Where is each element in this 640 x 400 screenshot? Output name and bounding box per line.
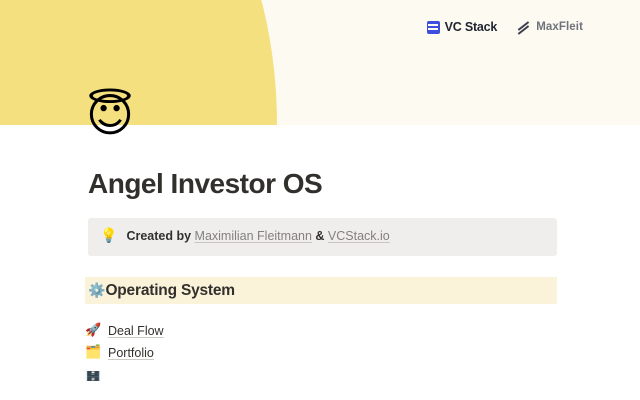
page-link-list: 🚀 Deal Flow 🗂️ Portfolio 🗄️ <box>0 320 640 381</box>
gear-emoji: ⚙️ <box>88 284 105 298</box>
vcstack-logo-label: VC Stack <box>445 20 498 34</box>
stacked-layers-icon <box>427 21 440 34</box>
double-slash-icon <box>517 21 531 33</box>
author-link[interactable]: Maximilian Fleitmann <box>195 229 312 243</box>
page-link-portfolio[interactable]: Portfolio <box>108 346 154 360</box>
card-index-dividers-emoji: 🗂️ <box>85 346 100 359</box>
rocket-emoji: 🚀 <box>85 324 100 337</box>
page-content: Angel Investor OS 💡 Created by Maximilia… <box>0 125 640 382</box>
page-title[interactable]: Angel Investor OS <box>88 168 640 200</box>
callout-block[interactable]: 💡 Created by Maximilian Fleitmann & VCSt… <box>88 218 557 256</box>
list-item[interactable]: 🗄️ <box>85 371 640 381</box>
page-link-deal-flow[interactable]: Deal Flow <box>108 324 164 338</box>
callout-separator: & <box>312 229 328 243</box>
callout-text: Created by Maximilian Fleitmann & VCStac… <box>126 228 389 245</box>
cover-sun-dome-shape <box>0 0 277 125</box>
brand-bar: VC Stack MaxFleit <box>427 20 583 34</box>
list-item[interactable]: 🚀 Deal Flow <box>85 320 640 341</box>
list-item[interactable]: 🗂️ Portfolio <box>85 342 640 363</box>
callout-lead-text: Created by <box>126 229 194 243</box>
file-cabinet-emoji: 🗄️ <box>85 371 100 381</box>
maxfleit-logo[interactable]: MaxFleit <box>517 21 583 33</box>
vcstack-logo[interactable]: VC Stack <box>427 20 498 34</box>
vcstack-site-link[interactable]: VCStack.io <box>328 229 390 243</box>
light-bulb-emoji[interactable]: 💡 <box>100 228 117 245</box>
section-heading-label: Operating System <box>105 282 234 300</box>
smiling-face-with-halo-emoji[interactable]: 😇 <box>86 92 134 138</box>
maxfleit-logo-label: MaxFleit <box>536 21 583 33</box>
section-heading-operating-system[interactable]: ⚙️ Operating System <box>85 277 557 304</box>
